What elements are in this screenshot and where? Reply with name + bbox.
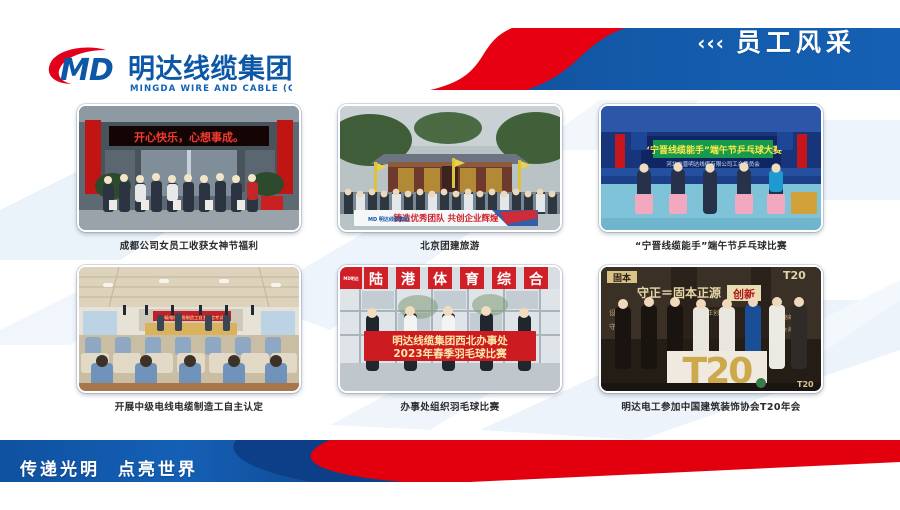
svg-text:陆: 陆 [369, 272, 383, 288]
svg-text:MD明达: MD明达 [343, 275, 358, 281]
photo-caption: 开展中级电线电缆制造工自主认定 [115, 402, 264, 413]
svg-text:明达线缆集团西北办事处: 明达线缆集团西北办事处 [392, 334, 508, 347]
svg-text:固本: 固本 [613, 272, 632, 284]
header-banner-title: ‹‹‹ 员工风采 [697, 30, 856, 55]
slide-page: ‹‹‹ 员工风采 MD 明达线缆集团 MINGDA WIRE AND CABLE… [0, 0, 900, 510]
footer-slogan: 传递光明 点亮世界 [20, 455, 198, 480]
photo-caption: 北京团建旅游 [420, 241, 479, 252]
gallery-item[interactable]: 固本 守正＝固本正源 创新 T20 设计方 守正 守正创新 新战略新 T20大会 [597, 265, 825, 413]
svg-text:中级电线电缆制造工自主认定考试: 中级电线电缆制造工自主认定考试 [161, 314, 225, 321]
photo-image: “宁晋线缆能手”端午节乒乓球大赛 河北宁晋明达线缆有限公司工会委员会 [601, 106, 821, 230]
photo-skill-certification[interactable]: 中级电线电缆制造工自主认定考试 [77, 265, 301, 393]
photo-image: 中级电线电缆制造工自主认定考试 [79, 267, 299, 391]
gallery-item[interactable]: “宁晋线缆能手”端午节乒乓球大赛 河北宁晋明达线缆有限公司工会委员会 [597, 104, 825, 252]
photo-chengdu-womens-day[interactable]: 开心快乐，心想事成。 [77, 104, 301, 232]
gallery-item[interactable]: 陆港体 育综合 MD明达 [336, 265, 564, 413]
svg-text:T20: T20 [797, 380, 814, 389]
svg-text:明达线缆集团: 明达线缆集团 [128, 53, 292, 85]
chevrons-left-icon: ‹‹‹ [697, 33, 725, 53]
photo-image: 陆港体 育综合 MD明达 [340, 267, 560, 391]
svg-text:MD: MD [60, 53, 113, 88]
svg-text:MD 明达线缆集团: MD 明达线缆集团 [368, 216, 409, 223]
page-header: ‹‹‹ 员工风采 MD 明达线缆集团 MINGDA WIRE AND CABLE… [0, 0, 900, 112]
svg-text:港: 港 [401, 271, 416, 288]
svg-text:合: 合 [529, 271, 544, 288]
gallery-row-1: 开心快乐，心想事成。 [0, 104, 900, 252]
page-footer: 传递光明 点亮世界 [0, 438, 900, 510]
svg-text:MINGDA WIRE AND CABLE (GROUP): MINGDA WIRE AND CABLE (GROUP) [130, 84, 292, 94]
gallery-item[interactable]: 铸造优秀团队 共创企业辉煌 MD 明达线缆集团 北京团建旅游 [336, 104, 564, 252]
photo-image: 开心快乐，心想事成。 [79, 106, 299, 230]
photo-pingpong-contest[interactable]: “宁晋线缆能手”端午节乒乓球大赛 河北宁晋明达线缆有限公司工会委员会 [599, 104, 823, 232]
photo-caption: 办事处组织羽毛球比赛 [400, 402, 499, 413]
page-title: 员工风采 [736, 30, 856, 55]
photo-t20-conference[interactable]: 固本 守正＝固本正源 创新 T20 设计方 守正 守正创新 新战略新 T20大会 [599, 265, 823, 393]
photo-image: 铸造优秀团队 共创企业辉煌 MD 明达线缆集团 [340, 106, 560, 230]
photo-beijing-teambuilding[interactable]: 铸造优秀团队 共创企业辉煌 MD 明达线缆集团 [338, 104, 562, 232]
gallery-item[interactable]: 中级电线电缆制造工自主认定考试 [75, 265, 303, 413]
photo-badminton-contest[interactable]: 陆港体 育综合 MD明达 [338, 265, 562, 393]
svg-text:铸造优秀团队 共创企业辉煌: 铸造优秀团队 共创企业辉煌 [394, 213, 499, 224]
svg-text:综: 综 [497, 271, 511, 288]
svg-text:2023年春季羽毛球比赛: 2023年春季羽毛球比赛 [393, 347, 507, 360]
photo-image: 固本 守正＝固本正源 创新 T20 设计方 守正 守正创新 新战略新 T20大会 [601, 267, 821, 391]
company-logo: MD 明达线缆集团 MINGDA WIRE AND CABLE (GROUP) [42, 44, 292, 96]
gallery-row-2: 中级电线电缆制造工自主认定考试 [0, 265, 900, 413]
svg-text:T20: T20 [783, 269, 806, 282]
photo-caption: 明达电工参加中国建筑装饰协会T20年会 [621, 402, 800, 413]
svg-text:体: 体 [433, 271, 448, 288]
gallery-item[interactable]: 开心快乐，心想事成。 [75, 104, 303, 252]
svg-text:“宁晋线缆能手”端午节乒乓球大赛: “宁晋线缆能手”端午节乒乓球大赛 [644, 144, 783, 156]
photo-caption: “宁晋线缆能手”端午节乒乓球比赛 [635, 241, 787, 252]
photo-gallery: 开心快乐，心想事成。 [0, 104, 900, 414]
svg-text:育: 育 [465, 271, 479, 288]
logo-artwork-icon: MD 明达线缆集团 MINGDA WIRE AND CABLE (GROUP) [42, 44, 292, 96]
svg-text:开心快乐，心想事成。: 开心快乐，心想事成。 [134, 130, 244, 144]
photo-caption: 成都公司女员工收获女神节福利 [120, 241, 259, 252]
